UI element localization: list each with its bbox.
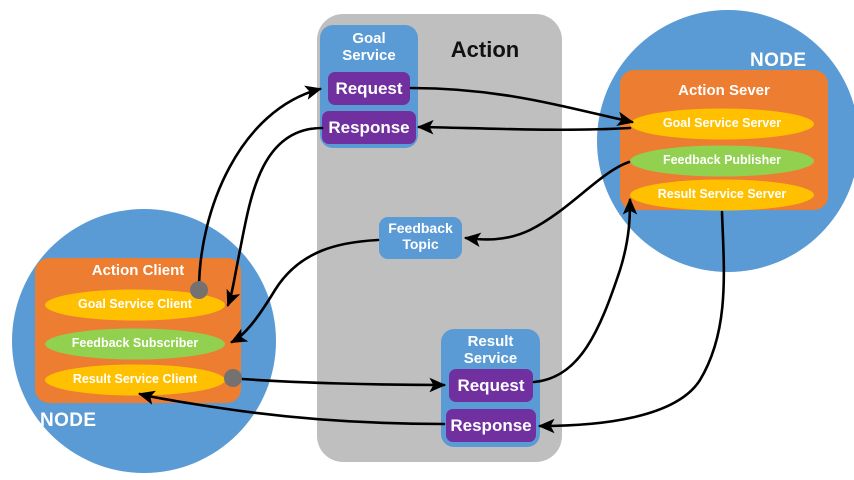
diagram-canvas: Action Goal Service Request Response Fee… — [0, 0, 854, 480]
feedback-topic-box — [379, 217, 462, 259]
feedback-publisher-ellipse — [630, 146, 814, 177]
goal-service-response-box — [322, 111, 416, 144]
action-group-title: Action — [432, 37, 538, 63]
goal-service-client-connector-dot — [190, 281, 208, 299]
result-service-response-box — [446, 409, 536, 442]
result-service-client-ellipse — [45, 365, 225, 396]
diagram-graphics — [0, 0, 854, 480]
feedback-subscriber-ellipse — [45, 329, 225, 360]
result-service-server-ellipse — [630, 180, 814, 211]
goal-service-server-ellipse — [630, 109, 814, 140]
goal-service-request-box — [328, 72, 410, 105]
result-service-request-box — [449, 369, 533, 402]
result-service-client-connector-dot — [224, 369, 242, 387]
